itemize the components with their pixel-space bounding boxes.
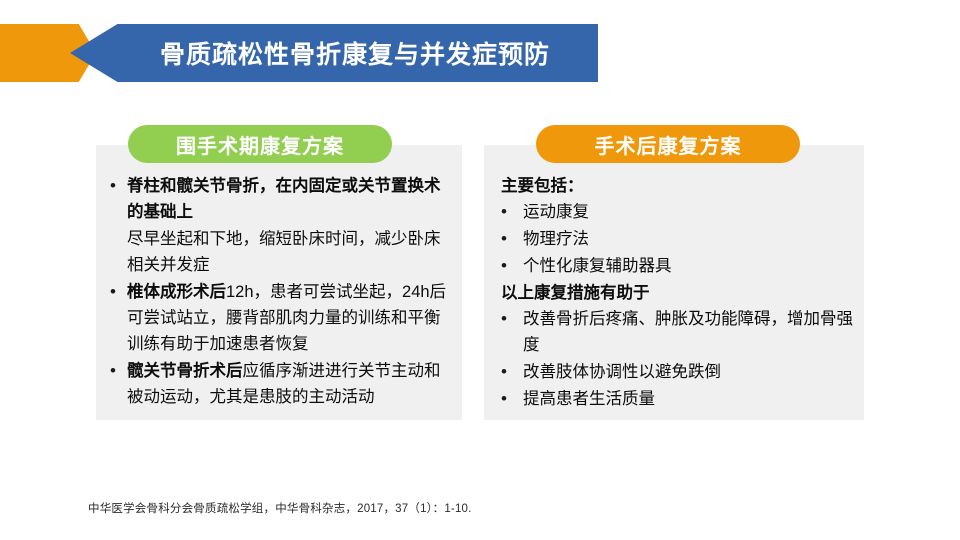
bullet-marker: • xyxy=(110,173,127,199)
bullet-marker: • xyxy=(501,199,523,225)
list-item: • 脊柱和髋关节骨折，在内固定或关节置换术的基础上 xyxy=(106,173,452,225)
bullet-marker: • xyxy=(501,359,523,385)
bullet-marker: • xyxy=(110,358,127,384)
list-item: • 改善肢体协调性以避免跌倒 xyxy=(494,359,854,385)
right-panel-pill: 手术后康复方案 xyxy=(536,125,800,163)
list-item-text: 改善肢体协调性以避免跌倒 xyxy=(523,359,854,385)
right-panel: 手术后康复方案 主要包括： • 运动康复 • 物理疗法 • 个性化康复辅助器具 … xyxy=(484,125,864,420)
list-item-text: 椎体成形术后12h，患者可尝试坐起，24h后可尝试站立，腰背部肌肉力量的训练和平… xyxy=(127,279,452,357)
bullet-marker: • xyxy=(501,253,523,279)
list-item: • 运动康复 xyxy=(494,199,854,225)
list-item-text: 物理疗法 xyxy=(523,226,854,252)
list-item-text: 提高患者生活质量 xyxy=(523,386,854,412)
section-heading: 主要包括： xyxy=(494,173,854,199)
list-item-continuation: • 尽早坐起和下地，缩短卧床时间，减少卧床相关并发症 xyxy=(106,226,452,278)
bullet-placeholder: • xyxy=(110,226,127,252)
list-item-text: 个性化康复辅助器具 xyxy=(523,253,854,279)
content-columns: 围手术期康复方案 • 脊柱和髋关节骨折，在内固定或关节置换术的基础上 • 尽早坐… xyxy=(0,125,960,445)
list-item: • 髋关节骨折术后应循序渐进进行关节主动和被动运动，尤其是患肢的主动活动 xyxy=(106,358,452,410)
list-item-lead: 髋关节骨折术后 xyxy=(127,362,243,380)
left-panel-card: • 脊柱和髋关节骨折，在内固定或关节置换术的基础上 • 尽早坐起和下地，缩短卧床… xyxy=(96,145,462,420)
list-item: • 椎体成形术后12h，患者可尝试坐起，24h后可尝试站立，腰背部肌肉力量的训练… xyxy=(106,279,452,357)
slide-header: 骨质疏松性骨折康复与并发症预防 xyxy=(0,24,960,82)
list-item-text: 尽早坐起和下地，缩短卧床时间，减少卧床相关并发症 xyxy=(127,226,452,278)
left-panel-pill: 围手术期康复方案 xyxy=(128,125,392,163)
list-item-lead: 椎体成形术后 xyxy=(127,283,226,301)
list-item: • 个性化康复辅助器具 xyxy=(494,253,854,279)
right-panel-card: 主要包括： • 运动康复 • 物理疗法 • 个性化康复辅助器具 以上康复措施有助… xyxy=(484,145,864,420)
section-heading: 以上康复措施有助于 xyxy=(494,280,854,306)
list-item-text: 改善骨折后疼痛、肿胀及功能障碍，增加骨强度 xyxy=(523,306,854,358)
list-item: • 提高患者生活质量 xyxy=(494,386,854,412)
bullet-marker: • xyxy=(501,306,523,332)
list-item: • 物理疗法 xyxy=(494,226,854,252)
list-item-text: 髋关节骨折术后应循序渐进进行关节主动和被动运动，尤其是患肢的主动活动 xyxy=(127,358,452,410)
right-panel-pill-label: 手术后康复方案 xyxy=(595,130,742,159)
header-blue-banner: 骨质疏松性骨折康复与并发症预防 xyxy=(70,24,598,82)
left-panel: 围手术期康复方案 • 脊柱和髋关节骨折，在内固定或关节置换术的基础上 • 尽早坐… xyxy=(96,125,462,420)
bullet-marker: • xyxy=(501,226,523,252)
left-panel-pill-label: 围手术期康复方案 xyxy=(176,130,344,159)
source-citation: 中华医学会骨科分会骨质疏松学组，中华骨科杂志，2017，37（1）：1-10. xyxy=(88,500,472,516)
page-title: 骨质疏松性骨折康复与并发症预防 xyxy=(118,35,550,71)
bullet-marker: • xyxy=(110,279,127,305)
list-item-text: 运动康复 xyxy=(523,199,854,225)
list-item-text: 脊柱和髋关节骨折，在内固定或关节置换术的基础上 xyxy=(127,173,452,225)
bullet-marker: • xyxy=(501,386,523,412)
list-item: • 改善骨折后疼痛、肿胀及功能障碍，增加骨强度 xyxy=(494,306,854,358)
